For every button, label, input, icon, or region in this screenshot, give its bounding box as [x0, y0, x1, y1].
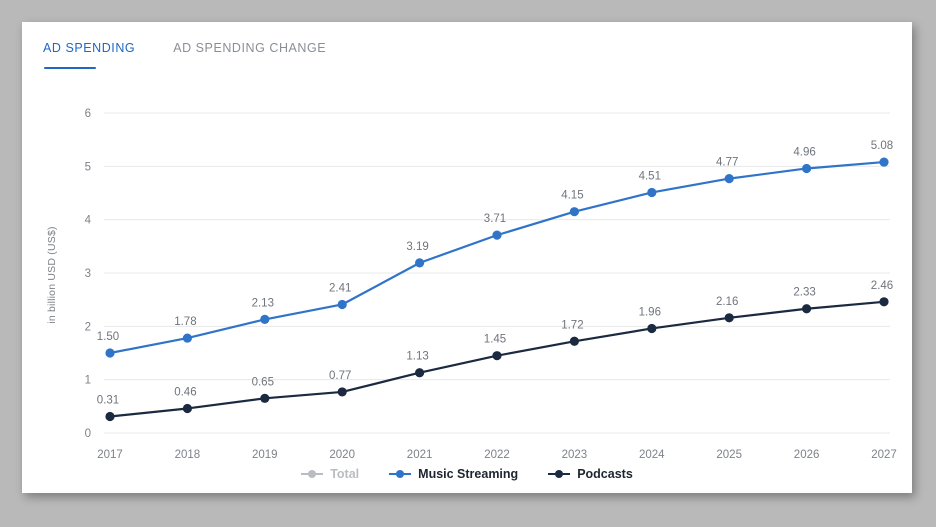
data-point[interactable]: [338, 387, 347, 396]
y-axis-tick-label: 1: [85, 375, 91, 387]
data-point-label: 1.45: [484, 334, 506, 346]
line-chart: 0123456201720182019202020212022202320242…: [22, 73, 912, 493]
data-point[interactable]: [570, 337, 579, 346]
data-point[interactable]: [415, 368, 424, 377]
data-point-label: 0.46: [174, 386, 196, 398]
x-axis-tick-label: 2022: [484, 449, 510, 461]
data-point-label: 4.51: [639, 170, 661, 182]
data-point[interactable]: [260, 394, 269, 403]
chart-card: AD SPENDING AD SPENDING CHANGE in billio…: [22, 22, 912, 493]
data-point-label: 3.19: [406, 241, 428, 253]
data-point[interactable]: [647, 324, 656, 333]
data-point-label: 2.16: [716, 296, 738, 308]
data-point[interactable]: [802, 164, 811, 173]
legend-label-total: Total: [330, 467, 359, 481]
y-axis-tick-label: 2: [85, 321, 91, 333]
legend-marker-icon: [389, 469, 411, 479]
legend-item-music-streaming[interactable]: Music Streaming: [389, 467, 518, 481]
data-point-label: 1.78: [174, 316, 196, 328]
data-point-label: 2.41: [329, 282, 351, 294]
data-point-label: 0.31: [97, 394, 119, 406]
tab-ad-spending-change-label: AD SPENDING CHANGE: [173, 41, 326, 55]
tab-active-underline: [44, 67, 96, 70]
x-axis-tick-label: 2024: [639, 449, 665, 461]
data-point-label: 4.15: [561, 190, 583, 202]
data-point-label: 5.08: [871, 140, 893, 152]
data-point-label: 4.77: [716, 157, 738, 169]
x-axis-tick-label: 2017: [97, 449, 123, 461]
plot-area: in billion USD (US$) 0123456201720182019…: [22, 73, 912, 493]
series-line-music-streaming: [110, 162, 884, 353]
data-point[interactable]: [492, 351, 501, 360]
data-point[interactable]: [183, 333, 192, 342]
data-point-label: 1.50: [97, 331, 119, 343]
legend-marker-icon: [301, 469, 323, 479]
data-point-label: 2.33: [793, 287, 815, 299]
y-axis-tick-label: 4: [85, 215, 92, 227]
x-axis-tick-label: 2020: [329, 449, 355, 461]
data-point[interactable]: [492, 231, 501, 240]
data-point[interactable]: [183, 404, 192, 413]
data-point[interactable]: [105, 412, 114, 421]
data-point[interactable]: [725, 313, 734, 322]
legend-item-total[interactable]: Total: [301, 467, 359, 481]
data-point-label: 2.13: [252, 297, 274, 309]
tab-ad-spending[interactable]: AD SPENDING: [43, 22, 135, 55]
legend-marker-icon: [548, 469, 570, 479]
tab-bar: AD SPENDING AD SPENDING CHANGE: [22, 22, 912, 73]
x-axis-tick-label: 2023: [562, 449, 588, 461]
data-point[interactable]: [260, 315, 269, 324]
x-axis-tick-label: 2025: [716, 449, 742, 461]
data-point-label: 1.72: [561, 319, 583, 331]
legend-label-podcasts: Podcasts: [577, 467, 633, 481]
data-point[interactable]: [802, 304, 811, 313]
x-axis-tick-label: 2026: [794, 449, 820, 461]
y-axis-tick-label: 3: [85, 268, 91, 280]
data-point[interactable]: [725, 174, 734, 183]
data-point-label: 0.77: [329, 370, 351, 382]
tab-ad-spending-change[interactable]: AD SPENDING CHANGE: [173, 22, 326, 55]
x-axis-tick-label: 2018: [175, 449, 201, 461]
x-axis-tick-label: 2019: [252, 449, 278, 461]
y-axis-tick-label: 5: [85, 161, 91, 173]
y-axis-tick-label: 0: [85, 428, 91, 440]
data-point[interactable]: [647, 188, 656, 197]
legend-item-podcasts[interactable]: Podcasts: [548, 467, 633, 481]
chart-legend: Total Music Streaming Podcasts: [22, 467, 912, 481]
legend-label-music-streaming: Music Streaming: [418, 467, 518, 481]
data-point-label: 3.71: [484, 213, 506, 225]
data-point-label: 2.46: [871, 280, 893, 292]
data-point-label: 1.13: [406, 351, 428, 363]
data-point[interactable]: [879, 297, 888, 306]
y-axis-tick-label: 6: [85, 108, 91, 120]
data-point-label: 1.96: [639, 306, 661, 318]
x-axis-tick-label: 2021: [407, 449, 433, 461]
x-axis-tick-label: 2027: [871, 449, 897, 461]
data-point[interactable]: [879, 157, 888, 166]
data-point-label: 4.96: [793, 146, 815, 158]
screenshot-stage: AD SPENDING AD SPENDING CHANGE in billio…: [0, 0, 936, 527]
data-point-label: 0.65: [252, 376, 274, 388]
data-point[interactable]: [105, 348, 114, 357]
tab-ad-spending-label: AD SPENDING: [43, 41, 135, 55]
data-point[interactable]: [338, 300, 347, 309]
data-point[interactable]: [415, 258, 424, 267]
data-point[interactable]: [570, 207, 579, 216]
